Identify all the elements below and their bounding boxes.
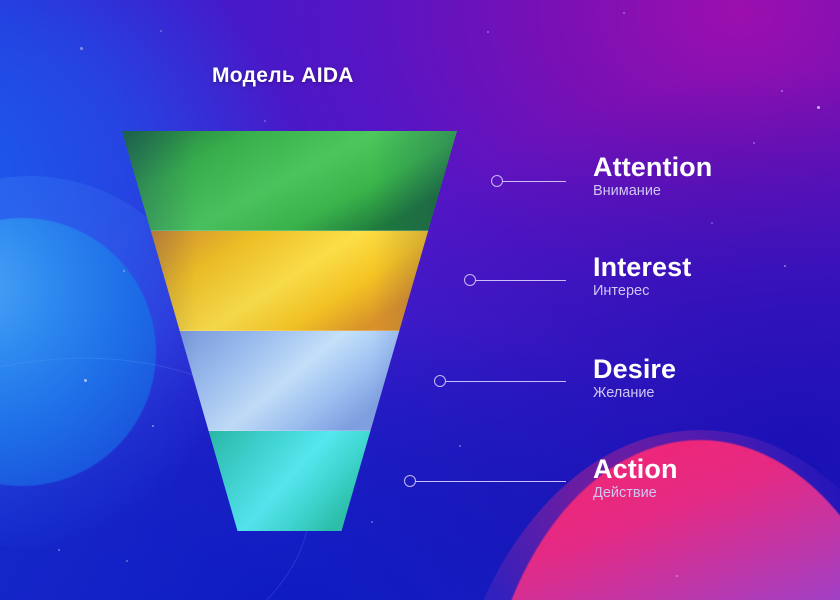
star-dot <box>817 106 820 109</box>
star-dot <box>623 12 625 14</box>
star-dot <box>80 47 83 50</box>
star-dot <box>676 575 678 577</box>
connector-line <box>415 481 566 482</box>
stage-title-en: Attention <box>593 153 712 181</box>
stage-label-interest[interactable]: InterestИнтерес <box>593 253 691 300</box>
star-dot <box>753 142 755 144</box>
connector-line <box>475 280 566 281</box>
star-dot <box>160 30 162 32</box>
stage-label-attention[interactable]: AttentionВнимание <box>593 153 712 200</box>
stage-title-en: Desire <box>593 355 676 383</box>
connector-desire <box>434 375 567 389</box>
star-dot <box>84 379 87 382</box>
star-dot <box>459 445 461 447</box>
connector-line <box>445 381 566 382</box>
star-dot <box>371 521 373 523</box>
connector-line <box>502 181 566 182</box>
star-dot <box>126 560 128 562</box>
star-dot <box>711 222 713 224</box>
stage-label-action[interactable]: ActionДействие <box>593 455 678 502</box>
stage-title-ru: Интерес <box>593 284 691 300</box>
star-dot <box>487 31 489 33</box>
star-dot <box>264 120 266 122</box>
star-dot <box>58 549 60 551</box>
star-dot <box>152 425 154 427</box>
star-field <box>0 0 840 600</box>
stage-title-ru: Действие <box>593 486 678 502</box>
stage-title-en: Action <box>593 455 678 483</box>
star-dot <box>784 265 786 267</box>
star-dot <box>123 270 125 272</box>
connector-attention <box>491 175 567 189</box>
star-dot <box>781 90 783 92</box>
stage-title-en: Interest <box>593 253 691 281</box>
connector-action <box>404 475 567 489</box>
stage-title-ru: Желание <box>593 386 676 402</box>
infographic-canvas: Модель AIDA AttentionВниманиеInterestИнт… <box>0 0 840 600</box>
connector-interest <box>464 274 567 288</box>
page-title: Модель AIDA <box>212 64 354 88</box>
stage-title-ru: Внимание <box>593 184 712 200</box>
stage-label-desire[interactable]: DesireЖелание <box>593 355 676 402</box>
